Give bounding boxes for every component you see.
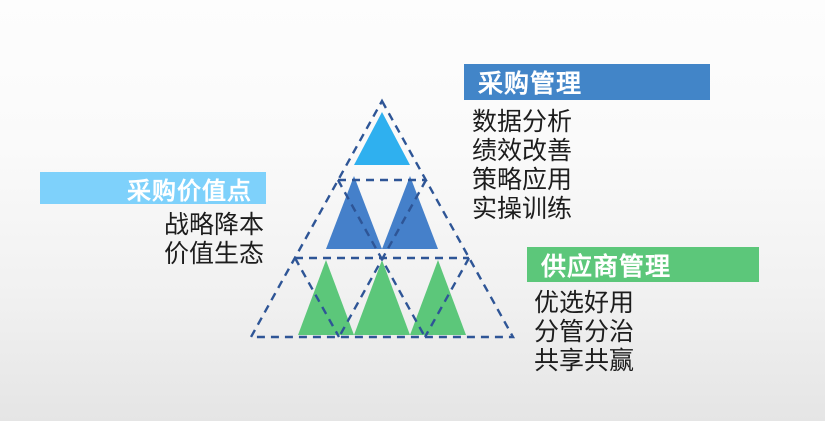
callout-procurement-title: 采购管理 — [464, 64, 710, 100]
list-item: 分管分治 — [534, 318, 759, 347]
callout-procurement: 采购管理 数据分析 绩效改善 策略应用 实操训练 — [464, 64, 710, 224]
slide-canvas: 采购管理 数据分析 绩效改善 策略应用 实操训练 采购价值点 战略降本 价值生态… — [0, 0, 825, 421]
callout-supplier-items: 优选好用 分管分治 共享共赢 — [527, 289, 759, 376]
list-item: 优选好用 — [534, 289, 759, 318]
list-item: 绩效改善 — [472, 137, 710, 166]
callout-value-points-title: 采购价值点 — [40, 172, 266, 204]
callout-value-points: 采购价值点 战略降本 价值生态 — [40, 172, 266, 269]
callout-procurement-items: 数据分析 绩效改善 策略应用 实操训练 — [464, 108, 710, 224]
list-item: 实操训练 — [472, 195, 710, 224]
callout-supplier-title: 供应商管理 — [527, 247, 759, 282]
callout-value-points-items: 战略降本 价值生态 — [40, 211, 266, 269]
callout-supplier: 供应商管理 优选好用 分管分治 共享共赢 — [527, 247, 759, 376]
list-item: 战略降本 — [40, 211, 264, 240]
list-item: 数据分析 — [472, 108, 710, 137]
tier3-triangle-1 — [298, 260, 354, 335]
list-item: 策略应用 — [472, 166, 710, 195]
tier3-triangle-3 — [410, 260, 466, 335]
tier3-triangle-2 — [354, 260, 410, 335]
list-item: 价值生态 — [40, 240, 264, 269]
list-item: 共享共赢 — [534, 347, 759, 376]
